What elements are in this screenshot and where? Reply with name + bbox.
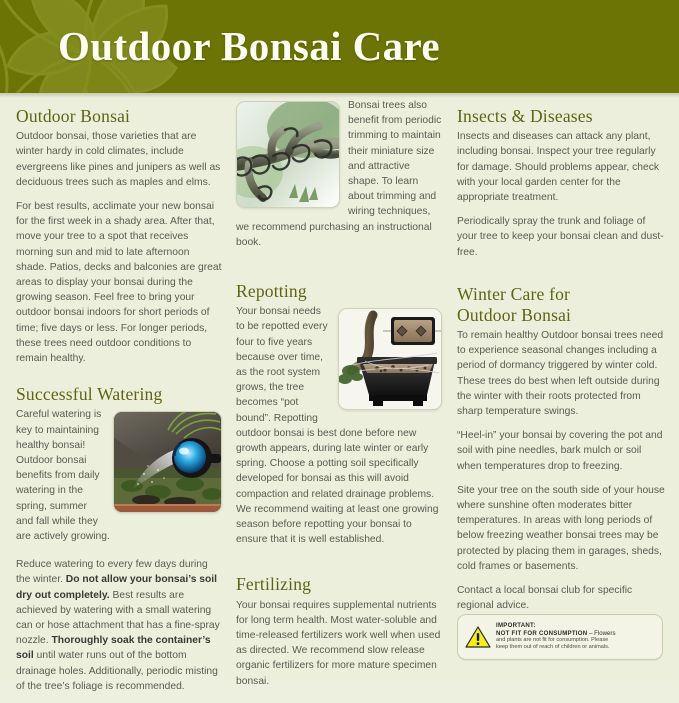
right-column: Insects & Diseases Insects and diseases … xyxy=(457,98,665,622)
warning-line-2: NOT FIT FOR CONSUMPTION – Flowers xyxy=(496,630,616,637)
watering-nozzle-image xyxy=(114,412,221,512)
photo-repotting xyxy=(338,308,442,410)
warning-line-1: IMPORTANT: xyxy=(496,622,616,629)
photo-wired-branch xyxy=(236,101,340,208)
warning-line-2-rest: – Flowers xyxy=(587,630,615,637)
watering-p2-part-c: until water runs out of the bottom drain… xyxy=(16,650,218,691)
heading-winter-care-line1: Winter Care for xyxy=(457,284,665,304)
warning-text-block: IMPORTANT: NOT FIT FOR CONSUMPTION – Flo… xyxy=(496,622,616,652)
winter-care-paragraph-1: To remain healthy Outdoor bonsai trees n… xyxy=(457,328,665,419)
heading-repotting: Repotting xyxy=(236,281,442,301)
warning-line-3: and plants are not fit for consumption. … xyxy=(496,637,616,644)
heading-winter-care-line2: Outdoor Bonsai xyxy=(457,305,665,325)
watering-paragraph-2: Reduce watering to every few days during… xyxy=(16,557,222,694)
warning-line-2-bold: NOT FIT FOR CONSUMPTION xyxy=(496,630,587,637)
warning-triangle-icon xyxy=(465,625,491,649)
heading-fertilizing: Fertilizing xyxy=(236,574,442,594)
content-columns: Outdoor Bonsai Outdoor bonsai, those var… xyxy=(0,98,679,679)
page-header: Outdoor Bonsai Care xyxy=(0,0,679,93)
poster-page: Outdoor Bonsai Care Outdoor Bonsai Outdo… xyxy=(0,0,679,679)
wired-branch-image xyxy=(237,102,339,207)
important-warning-box: IMPORTANT: NOT FIT FOR CONSUMPTION – Flo… xyxy=(457,614,663,660)
left-column: Outdoor Bonsai Outdoor bonsai, those var… xyxy=(16,98,222,703)
winter-care-paragraph-3: Site your tree on the south side of your… xyxy=(457,483,665,574)
fertilizing-paragraph-1: Your bonsai requires supplemental nutrie… xyxy=(236,598,442,689)
photo-watering-nozzle xyxy=(113,411,222,513)
repotting-image xyxy=(339,309,441,409)
winter-care-paragraph-4: Contact a local bonsai club for specific… xyxy=(457,583,665,613)
insects-paragraph-1: Insects and diseases can attack any plan… xyxy=(457,129,665,205)
heading-outdoor-bonsai: Outdoor Bonsai xyxy=(16,106,222,126)
heading-successful-watering: Successful Watering xyxy=(16,384,222,404)
warning-line-4: keep them out of reach of children or an… xyxy=(496,644,616,651)
winter-care-paragraph-2: “Heel-in” your bonsai by covering the po… xyxy=(457,428,665,474)
middle-column: Bonsai trees also benefit from periodic … xyxy=(236,98,442,698)
heading-insects-diseases: Insects & Diseases xyxy=(457,106,665,126)
page-title: Outdoor Bonsai Care xyxy=(58,22,440,70)
outdoor-bonsai-paragraph-1: Outdoor bonsai, those varieties that are… xyxy=(16,129,222,190)
outdoor-bonsai-paragraph-2: For best results, acclimate your new bon… xyxy=(16,199,222,366)
insects-paragraph-2: Periodically spray the trunk and foliage… xyxy=(457,214,665,260)
